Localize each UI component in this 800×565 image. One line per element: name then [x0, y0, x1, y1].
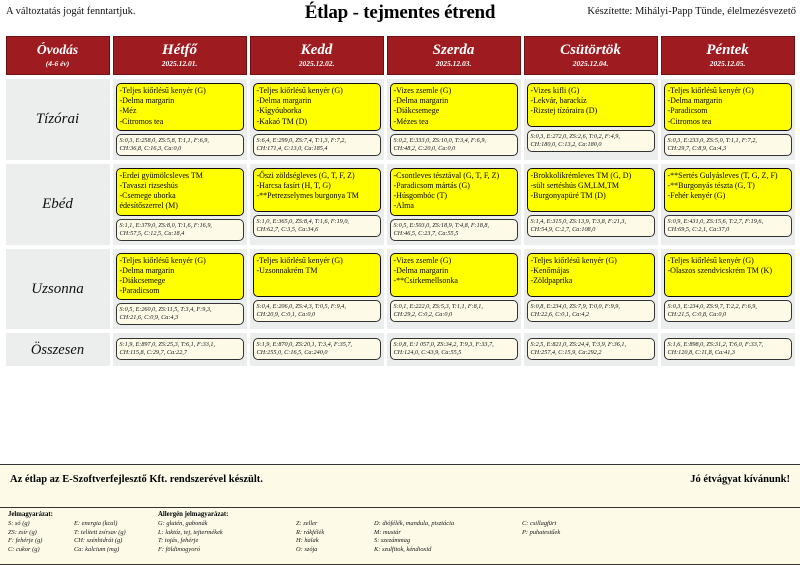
- food-item: -Teljes kiőrlésű kenyér (G): [531, 256, 651, 266]
- meal-cell: -Erdei gyümölcsleves TM-Tavaszi rizseshú…: [113, 164, 247, 245]
- nutrition-line: CH:29,7, C:8,9, Ca:4,3: [668, 145, 788, 153]
- food-items-box: -Teljes kiőrlésű kenyér (G)-Delma margar…: [253, 83, 381, 131]
- column-header-name: Péntek: [664, 42, 792, 58]
- legend-item: K: szulfitok, kéndioxid: [374, 546, 522, 555]
- food-items-box: -Teljes kiőrlésű kenyér (G)-Delma margar…: [116, 83, 244, 131]
- allergen-legend-column-4: C: csillagfürtP: puhatestűek: [522, 520, 612, 554]
- legend-item: E: energia (kcal): [74, 520, 140, 529]
- food-item: -Kígyóuborka: [257, 106, 377, 116]
- food-item: -Brokkolikrémleves TM (G, D): [531, 171, 651, 181]
- meal-cell: -Teljes kiőrlésű kenyér (G)-Uzsonnakrém …: [250, 249, 384, 330]
- nutrition-line: CH:36,8, C:16,3, Ca:0,0: [120, 145, 240, 153]
- nutrition-values-box: S:0,2, E:333,0, ZS:10,0, T:3,4, F:6,9,CH…: [390, 134, 518, 156]
- food-items-box: -Vizes zsemle (G)-Delma margarin-**Csirk…: [390, 253, 518, 297]
- food-item: -Paradicsom: [668, 106, 788, 116]
- document-header: A változtatás jogát fenntartjuk. Étlap -…: [0, 0, 800, 30]
- legend-item: S: szezámmag: [374, 537, 522, 546]
- food-items-box: -Erdei gyümölcsleves TM-Tavaszi rizseshú…: [116, 168, 244, 216]
- meal-cell: -Őszi zöldségleves (G, T, F, Z)-Harcsa f…: [250, 164, 384, 245]
- nutrition-values-box: S:0,4, E:206,0, ZS:4,3, T:0,5, F:9,4,CH:…: [253, 300, 381, 322]
- food-item: -Delma margarin: [120, 96, 240, 106]
- food-item: -Diákcsemege: [394, 106, 514, 116]
- nutrition-line: S:0,5, E:260,0, ZS:11,5, T:3,4, F:9,3,: [120, 306, 240, 314]
- food-items-box: -Teljes kiőrlésű kenyér (G)-Kenőmájas-Zö…: [527, 253, 655, 297]
- total-cell: S:1,6, E:898,0, ZS:31,2, T:6,0, F:33,7,C…: [661, 333, 795, 366]
- software-note: Az étlap az E-Szoftverfejlesztő Kft. ren…: [10, 474, 263, 485]
- nutrition-line: CH:120,8, C:11,8, Ca:41,3: [668, 349, 788, 357]
- food-item: -Citromos tea: [120, 117, 240, 127]
- nutrition-line: S:0,3, E:233,0, ZS:5,0, T:1,1, F:7,2,: [668, 137, 788, 145]
- nutrition-values-box: S:6,4, E:299,0, ZS:7,4, T:1,3, F:7,2,CH:…: [253, 134, 381, 156]
- nutrition-line: CH:171,4, C:13,0, Ca:185,4: [257, 145, 377, 153]
- food-item: -Erdei gyümölcsleves TM: [120, 171, 240, 181]
- nutrition-line: S:1,6, E:898,0, ZS:31,2, T:6,0, F:33,7,: [668, 341, 788, 349]
- food-item: -Csontleves tésztával (G, T, F, Z): [394, 171, 514, 181]
- food-item: -Diákcsemege: [120, 276, 240, 286]
- nutrition-values-box: S:0,3, E:233,0, ZS:5,0, T:1,1, F:7,2,CH:…: [664, 134, 792, 156]
- food-item: -Delma margarin: [394, 266, 514, 276]
- legend-item: M: mustár: [374, 529, 522, 538]
- food-item: -Delma margarin: [257, 96, 377, 106]
- meal-cell: -Vizes kifli (G)-Lekvár, barackíz-Rizste…: [524, 79, 658, 160]
- legend-item: S: só (g): [8, 520, 74, 529]
- column-header-date: 2025.12.04.: [527, 59, 655, 68]
- food-item: -Kakaó TM (D): [257, 117, 377, 127]
- nutrition-line: CH:115,8, C:29,7, Ca:22,7: [120, 349, 240, 357]
- food-item: -Húsgombóc (T): [394, 191, 514, 201]
- column-header-name: Óvodás: [9, 42, 107, 58]
- total-nutrition-box: S:1,9, E:897,0, ZS:25,3, T:6,1, F:33,1,C…: [116, 338, 244, 360]
- food-item: -Fehér kenyér (G): [668, 191, 788, 201]
- nutrition-line: S:0,3, E:258,0, ZS:5,8, T:1,1, F:6,9,: [120, 137, 240, 145]
- food-items-box: -Teljes kiőrlésű kenyér (G)-Delma margar…: [116, 253, 244, 301]
- column-header-date: 2025.12.03.: [390, 59, 518, 68]
- food-item: -Kenőmájas: [531, 266, 651, 276]
- allergen-legend-column-2: Z: zellerR: rákfélékH: halakO: szója: [296, 520, 374, 554]
- food-item: -Méz: [120, 106, 240, 116]
- food-items-box: -Vizes kifli (G)-Lekvár, barackíz-Rizste…: [527, 83, 655, 127]
- nutrition-values-box: S:0,1, E:222,0, ZS:5,3, T:1,1, F:8,1,CH:…: [390, 300, 518, 322]
- food-item: -Vizes zsemle (G): [394, 86, 514, 96]
- nutrition-values-box: S:0,9, E:431,0, ZS:15,6, T:2,7, F:19,6,C…: [664, 215, 792, 237]
- food-item: -Teljes kiőrlésű kenyér (G): [120, 256, 240, 266]
- total-cell: S:2,5, E:821,0, ZS:24,4, T:3,9, F:36,1,C…: [524, 333, 658, 366]
- meal-cell: -Teljes kiőrlésű kenyér (G)-Delma margar…: [250, 79, 384, 160]
- nutrition-values-box: S:0,5, E:260,0, ZS:11,5, T:3,4, F:9,3,CH…: [116, 303, 244, 325]
- column-header-name: Csütörtök: [527, 42, 655, 58]
- food-item: -Csemege uborka: [120, 191, 240, 201]
- nutrition-line: S:0,8, E:234,0, ZS:7,9, T:0,0, F:9,9,: [531, 303, 651, 311]
- food-items-box: -Teljes kiőrlésű kenyér (G)-Delma margar…: [664, 83, 792, 131]
- legend-item: T: tojás, fehérje: [158, 537, 296, 546]
- food-item: -sült sertéshús GM,LM,TM: [531, 181, 651, 191]
- meal-cell: -Brokkolikrémleves TM (G, D)-sült sertés…: [524, 164, 658, 245]
- food-item: -**Csirkemellsonka: [394, 276, 514, 286]
- nutrition-values-box: S:1,1, E:379,0, ZS:8,0, T:1,6, F:16,9,CH…: [116, 219, 244, 241]
- nutrition-line: CH:255,0, C:16,5, Ca:240,0: [257, 349, 377, 357]
- nutrition-line: S:0,3, E:272,0, ZS:2,6, T:0,2, F:4,9,: [531, 133, 651, 141]
- footer-note-row: Az étlap az E-Szoftverfejlesztő Kft. ren…: [0, 465, 800, 495]
- nutrition-values-box: S:0,3, E:258,0, ZS:5,8, T:1,1, F:6,9,CH:…: [116, 134, 244, 156]
- column-header-date: 2025.12.01.: [116, 59, 244, 68]
- meal-row-label-text: Ebéd: [42, 196, 73, 212]
- food-items-box: -Teljes kiőrlésű kenyér (G)-Uzsonnakrém …: [253, 253, 381, 297]
- meal-cell: -Teljes kiőrlésű kenyér (G)-Delma margar…: [661, 79, 795, 160]
- food-items-box: -Őszi zöldségleves (G, T, F, Z)-Harcsa f…: [253, 168, 381, 212]
- food-item: édesítőszerrel (M): [120, 201, 240, 211]
- meal-cell: -Teljes kiőrlésű kenyér (G)-Delma margar…: [113, 249, 247, 330]
- legend-item: C: cukor (g): [8, 546, 74, 555]
- meal-row: Ebéd-Erdei gyümölcsleves TM-Tavaszi rizs…: [6, 164, 795, 245]
- allergen-legend: Allergén jelmagyarázat: G: glutén, gabon…: [158, 511, 792, 562]
- column-header-name: Szerda: [390, 42, 518, 58]
- nutrition-line: S:0,5, E:503,0, ZS:18,9, T:4,8, F:18,8,: [394, 222, 514, 230]
- food-item: -Vizes zsemle (G): [394, 256, 514, 266]
- food-item: -Őszi zöldségleves (G, T, F, Z): [257, 171, 377, 181]
- nutrition-line: S:1,0, E:365,0, ZS:8,4, T:1,6, F:19,0,: [257, 218, 377, 226]
- food-items-box: -**Sertés Gulyásleves (T, G, Z, F)-**Bur…: [664, 168, 792, 212]
- food-item: -Teljes kiőrlésű kenyér (G): [668, 86, 788, 96]
- food-item: -Teljes kiőrlésű kenyér (G): [120, 86, 240, 96]
- legend-item: F: földimogyoró: [158, 546, 296, 555]
- nutrition-values-box: S:0,8, E:234,0, ZS:7,9, T:0,0, F:9,9,CH:…: [527, 300, 655, 322]
- nutrition-values-box: S:0,5, E:503,0, ZS:18,9, T:4,8, F:18,8,C…: [390, 219, 518, 241]
- food-item: -Teljes kiőrlésű kenyér (G): [257, 256, 377, 266]
- nutrition-line: S:0,4, E:206,0, ZS:4,3, T:0,5, F:9,4,: [257, 303, 377, 311]
- total-nutrition-box: S:1,9, E:870,0, ZS:20,1, T:3,4, F:35,7,C…: [253, 338, 381, 360]
- food-items-box: -Csontleves tésztával (G, T, F, Z)-Parad…: [390, 168, 518, 216]
- allergen-legend-column-1: G: glutén, gabonákL: laktóz, tej, tejter…: [158, 520, 296, 554]
- meal-cell: -Teljes kiőrlésű kenyér (G)-Kenőmájas-Zö…: [524, 249, 658, 330]
- nutrition-line: CH:54,9, C:2,7, Ca:108,0: [531, 226, 651, 234]
- column-header-date: 2025.12.05.: [664, 59, 792, 68]
- legend-item: F: fehérje (g): [8, 537, 74, 546]
- nutrition-line: CH:46,5, C:23,7, Ca:55,5: [394, 230, 514, 238]
- nutrition-legend: Jelmagyarázat: S: só (g)ZS: zsír (g)F: f…: [8, 511, 158, 562]
- food-items-box: -Teljes kiőrlésű kenyér (G)-Olaszos szen…: [664, 253, 792, 297]
- total-cell: S:0,8, E:1 057,0, ZS:34,2, T:9,3, F:33,7…: [387, 333, 521, 366]
- food-item: -Alma: [394, 201, 514, 211]
- nutrition-line: S:6,4, E:299,0, ZS:7,4, T:1,3, F:7,2,: [257, 137, 377, 145]
- meal-row-label-tizorai: Tízórai: [6, 79, 110, 160]
- column-header-name: Hétfő: [116, 42, 244, 58]
- total-nutrition-box: S:0,8, E:1 057,0, ZS:34,2, T:9,3, F:33,7…: [390, 338, 518, 360]
- nutrition-line: S:0,9, E:431,0, ZS:15,6, T:2,7, F:19,6,: [668, 218, 788, 226]
- menu-table: Óvodás (4-6 év) Hétfő 2025.12.01. Kedd 2…: [3, 32, 798, 370]
- food-item: -Teljes kiőrlésű kenyér (G): [257, 86, 377, 96]
- column-header-tuesday: Kedd 2025.12.02.: [250, 36, 384, 75]
- nutrition-line: S:1,9, E:897,0, ZS:25,3, T:6,1, F:33,1,: [120, 341, 240, 349]
- column-header-date: (4-6 év): [9, 59, 107, 68]
- total-row-label-text: Összesen: [31, 342, 84, 358]
- author-credit: Készítette: Mihályi-Papp Tünde, élelmezé…: [587, 6, 796, 17]
- allergen-legend-title: Allergén jelmagyarázat:: [158, 511, 792, 518]
- food-item: -Zöldpaprika: [531, 276, 651, 286]
- nutrition-legend-column-1: S: só (g)ZS: zsír (g)F: fehérje (g)C: cu…: [8, 520, 74, 554]
- meal-row-label-uzsonna: Uzsonna: [6, 249, 110, 330]
- food-item: -Rizstej tízóraira (D): [531, 106, 651, 116]
- document-footer: Az étlap az E-Szoftverfejlesztő Kft. ren…: [0, 464, 800, 565]
- nutrition-line: CH:124,0, C:43,9, Ca:55,5: [394, 349, 514, 357]
- total-row: ÖsszesenS:1,9, E:897,0, ZS:25,3, T:6,1, …: [6, 333, 795, 366]
- meal-cell: -Teljes kiőrlésű kenyér (G)-Olaszos szen…: [661, 249, 795, 330]
- legend-item: ZS: zsír (g): [8, 529, 74, 538]
- nutrition-line: CH:29,2, C:0,2, Ca:0,0: [394, 311, 514, 319]
- total-nutrition-box: S:2,5, E:821,0, ZS:24,4, T:3,9, F:36,1,C…: [527, 338, 655, 360]
- food-item: -Citromos tea: [668, 117, 788, 127]
- food-item: -**Sertés Gulyásleves (T, G, Z, F): [668, 171, 788, 181]
- legend-item: D: diófélék, mandula, pisztácia: [374, 520, 522, 529]
- food-item: -Lekvár, barackíz: [531, 96, 651, 106]
- nutrition-line: S:0,8, E:1 057,0, ZS:34,2, T:9,3, F:33,7…: [394, 341, 514, 349]
- meal-cell: -Vizes zsemle (G)-Delma margarin-**Csirk…: [387, 249, 521, 330]
- nutrition-values-box: S:0,3, E:234,0, ZS:9,7, T:2,2, F:6,9,CH:…: [664, 300, 792, 322]
- nutrition-line: CH:180,0, C:13,2, Ca:180,0: [531, 141, 651, 149]
- food-item: -**Petrezselymes burgonya TM: [257, 191, 377, 201]
- legend-item: C: csillagfürt: [522, 520, 612, 529]
- column-header-date: 2025.12.02.: [253, 59, 381, 68]
- total-nutrition-box: S:1,6, E:898,0, ZS:31,2, T:6,0, F:33,7,C…: [664, 338, 792, 360]
- legend-item: G: glutén, gabonák: [158, 520, 296, 529]
- legend-item: O: szója: [296, 546, 374, 555]
- food-item: -Uzsonnakrém TM: [257, 266, 377, 276]
- column-header-monday: Hétfő 2025.12.01.: [113, 36, 247, 75]
- nutrition-line: S:1,9, E:870,0, ZS:20,1, T:3,4, F:35,7,: [257, 341, 377, 349]
- legend-item: R: rákfélék: [296, 529, 374, 538]
- total-cell: S:1,9, E:897,0, ZS:25,3, T:6,1, F:33,1,C…: [113, 333, 247, 366]
- food-item: -Delma margarin: [120, 266, 240, 276]
- nutrition-legend-column-2: E: energia (kcal)T: telített zsírsav (g)…: [74, 520, 140, 554]
- food-item: -Vizes kifli (G): [531, 86, 651, 96]
- food-item: -Tavaszi rizseshús: [120, 181, 240, 191]
- nutrition-line: CH:21,6, C:0,9, Ca:4,3: [120, 314, 240, 322]
- column-header-wednesday: Szerda 2025.12.03.: [387, 36, 521, 75]
- nutrition-line: S:0,2, E:333,0, ZS:10,0, T:3,4, F:6,9,: [394, 137, 514, 145]
- legend-item: Ca: kalcium (mg): [74, 546, 140, 555]
- total-cell: S:1,9, E:870,0, ZS:20,1, T:3,4, F:35,7,C…: [250, 333, 384, 366]
- allergen-legend-column-3: D: diófélék, mandula, pisztáciaM: mustár…: [374, 520, 522, 554]
- meal-cell: -Teljes kiőrlésű kenyér (G)-Delma margar…: [113, 79, 247, 160]
- nutrition-line: S:1,1, E:379,0, ZS:8,0, T:1,6, F:16,9,: [120, 222, 240, 230]
- nutrition-values-box: S:1,4, E:315,0, ZS:13,9, T:3,8, F:21,3,C…: [527, 215, 655, 237]
- food-item: -Burgonyapüré TM (D): [531, 191, 651, 201]
- column-header-thursday: Csütörtök 2025.12.04.: [524, 36, 658, 75]
- meal-row: Uzsonna-Teljes kiőrlésű kenyér (G)-Delma…: [6, 249, 795, 330]
- legend-item: P: puhatestűek: [522, 529, 612, 538]
- nutrition-line: CH:62,7, C:3,5, Ca:34,6: [257, 226, 377, 234]
- legend-item: L: laktóz, tej, tejtermékek: [158, 529, 296, 538]
- nutrition-line: CH:48,2, C:20,0, Ca:0,0: [394, 145, 514, 153]
- food-item: -Harcsa fasírt (H, T, G): [257, 181, 377, 191]
- legend-item: CH: szénhidrát (g): [74, 537, 140, 546]
- food-items-box: -Vizes zsemle (G)-Delma margarin-Diákcse…: [390, 83, 518, 131]
- nutrition-line: CH:257,4, C:15,9, Ca:292,2: [531, 349, 651, 357]
- column-header-name: Kedd: [253, 42, 381, 58]
- legend-item: T: telített zsírsav (g): [74, 529, 140, 538]
- food-item: -Paradicsom mártás (G): [394, 181, 514, 191]
- food-item: -Paradicsom: [120, 286, 240, 296]
- nutrition-values-box: S:0,3, E:272,0, ZS:2,6, T:0,2, F:4,9,CH:…: [527, 130, 655, 152]
- food-items-box: -Brokkolikrémleves TM (G, D)-sült sertés…: [527, 168, 655, 212]
- column-header-friday: Péntek 2025.12.05.: [661, 36, 795, 75]
- nutrition-values-box: S:1,0, E:365,0, ZS:8,4, T:1,6, F:19,0,CH…: [253, 215, 381, 237]
- food-item: -Delma margarin: [394, 96, 514, 106]
- food-item: -Teljes kiőrlésű kenyér (G): [668, 256, 788, 266]
- food-item: -Olaszos szendvicskrém TM (K): [668, 266, 788, 276]
- column-header-agegroup: Óvodás (4-6 év): [6, 36, 110, 75]
- food-item: -Mézes tea: [394, 117, 514, 127]
- nutrition-legend-title: Jelmagyarázat:: [8, 511, 158, 518]
- meal-cell: -Csontleves tésztával (G, T, F, Z)-Parad…: [387, 164, 521, 245]
- nutrition-line: CH:57,5, C:12,5, Ca:18,4: [120, 230, 240, 238]
- total-row-label: Összesen: [6, 333, 110, 366]
- meal-row-label-text: Tízórai: [36, 111, 79, 127]
- legend-section: Jelmagyarázat: S: só (g)ZS: zsír (g)F: f…: [0, 507, 800, 565]
- food-item: -**Burgonyás tészta (G, T): [668, 181, 788, 191]
- nutrition-line: S:0,1, E:222,0, ZS:5,3, T:1,1, F:8,1,: [394, 303, 514, 311]
- nutrition-line: S:2,5, E:821,0, ZS:24,4, T:3,9, F:36,1,: [531, 341, 651, 349]
- bon-appetit-note: Jó étvágyat kívánunk!: [690, 474, 790, 485]
- nutrition-line: CH:20,9, C:0,1, Ca:0,0: [257, 311, 377, 319]
- legend-item: Z: zeller: [296, 520, 374, 529]
- food-item: -Delma margarin: [668, 96, 788, 106]
- nutrition-line: CH:69,5, C:2,1, Ca:37,0: [668, 226, 788, 234]
- nutrition-line: S:1,4, E:315,0, ZS:13,9, T:3,8, F:21,3,: [531, 218, 651, 226]
- meal-row: Tízórai-Teljes kiőrlésű kenyér (G)-Delma…: [6, 79, 795, 160]
- nutrition-line: S:0,3, E:234,0, ZS:9,7, T:2,2, F:6,9,: [668, 303, 788, 311]
- table-header-row: Óvodás (4-6 év) Hétfő 2025.12.01. Kedd 2…: [6, 36, 795, 75]
- meal-cell: -Vizes zsemle (G)-Delma margarin-Diákcse…: [387, 79, 521, 160]
- meal-row-label-ebed: Ebéd: [6, 164, 110, 245]
- nutrition-line: CH:21,5, C:0,8, Ca:0,0: [668, 311, 788, 319]
- nutrition-line: CH:22,6, C:0,1, Ca:4,2: [531, 311, 651, 319]
- meal-cell: -**Sertés Gulyásleves (T, G, Z, F)-**Bur…: [661, 164, 795, 245]
- legend-item: H: halak: [296, 537, 374, 546]
- meal-row-label-text: Uzsonna: [31, 281, 84, 297]
